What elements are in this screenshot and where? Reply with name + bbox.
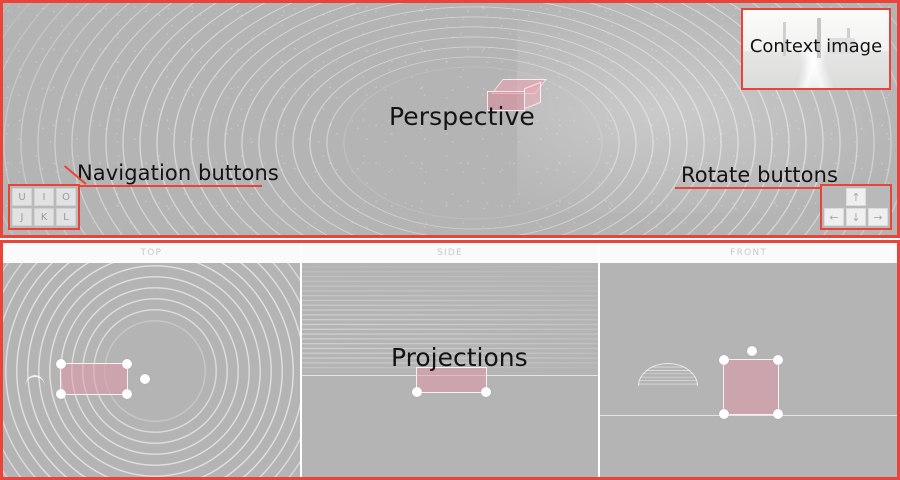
handle-top-center[interactable] (747, 346, 757, 356)
handle-bottom-left[interactable] (412, 387, 422, 397)
nav-key-j[interactable]: J (12, 208, 32, 226)
rotate-arrow-grid: ↑ ← ↓ → (824, 188, 888, 226)
context-image-caption: Context image (743, 36, 889, 57)
handle-top-left[interactable] (56, 359, 66, 369)
arrow-up-icon[interactable]: ↑ (846, 188, 866, 206)
perspective-label: Perspective (389, 102, 535, 131)
handle-bottom-right[interactable] (122, 389, 132, 399)
navigation-leader-line (77, 185, 262, 187)
front-projection-canvas[interactable] (600, 263, 897, 477)
navigation-buttons-label: Navigation buttons (77, 161, 279, 185)
context-image[interactable]: Context image (741, 8, 891, 90)
front-projection-title: FRONT (600, 243, 897, 263)
navigation-key-grid: U I O J K L (12, 188, 76, 226)
arrow-right-icon[interactable]: → (868, 208, 888, 226)
side-projection-title: SIDE (302, 243, 599, 263)
handle-bottom-right[interactable] (773, 409, 783, 419)
front-box-2d[interactable] (723, 359, 779, 415)
handle-top-right[interactable] (122, 359, 132, 369)
rotate-buttons-label: Rotate buttons (681, 163, 838, 187)
handle-top-right[interactable] (773, 355, 783, 365)
front-ground-line (600, 415, 897, 416)
navigation-buttons[interactable]: U I O J K L (8, 184, 80, 230)
top-projection-panel[interactable]: TOP (3, 243, 302, 477)
perspective-view[interactable]: Perspective Navigation buttons Rotate bu… (0, 0, 900, 238)
arrow-left-icon[interactable]: ← (824, 208, 844, 226)
projections-label: Projections (391, 343, 528, 372)
top-projection-title: TOP (3, 243, 300, 263)
front-object-arch (638, 363, 698, 386)
rotate-leader-line (675, 187, 839, 189)
handle-bottom-left[interactable] (56, 389, 66, 399)
top-projection-canvas[interactable] (3, 263, 300, 477)
top-lidar-rings (3, 263, 300, 477)
front-projection-panel[interactable]: FRONT (600, 243, 897, 477)
lidar-annotation-app: Perspective Navigation buttons Rotate bu… (0, 0, 900, 480)
nav-key-l[interactable]: L (56, 208, 76, 226)
handle-top-left[interactable] (719, 355, 729, 365)
nav-key-k[interactable]: K (34, 208, 54, 226)
nav-key-i[interactable]: I (34, 188, 54, 206)
nav-key-o[interactable]: O (56, 188, 76, 206)
top-box-2d[interactable] (60, 363, 128, 395)
rotate-buttons[interactable]: ↑ ← ↓ → (820, 184, 892, 230)
arrow-down-icon[interactable]: ↓ (846, 208, 866, 226)
nav-key-u[interactable]: U (12, 188, 32, 206)
handle-bottom-left[interactable] (719, 409, 729, 419)
projections-view[interactable]: TOP SIDE (0, 240, 900, 480)
handle-bottom-right[interactable] (481, 387, 491, 397)
